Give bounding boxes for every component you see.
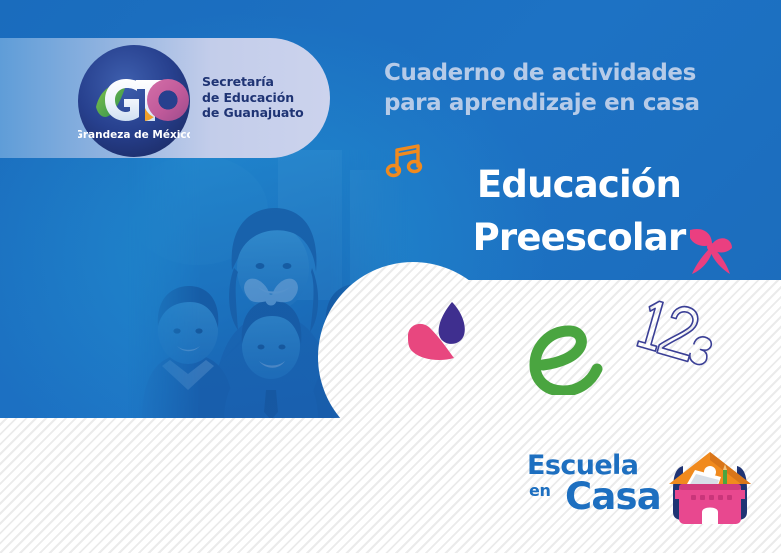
house-backpack-icon [665, 450, 755, 528]
secretariat-text: Secretaría de Educación de Guanajuato [202, 74, 304, 121]
purple-teardrop-shape [437, 301, 467, 347]
green-letter-e-icon [527, 323, 605, 395]
escuela-en-casa-logo: Escuela en Casa [527, 450, 753, 526]
headline-line-1: Cuaderno de actividades [384, 60, 696, 86]
gto-tagline: Grandeza de México [78, 129, 190, 141]
secretariat-line-2: de Educación [202, 90, 304, 106]
headline-line-2: para aprendizaje en casa [384, 88, 754, 118]
secretariat-line-1: Secretaría [202, 74, 304, 90]
casa-word: Casa [565, 475, 661, 518]
secretariat-line-3: de Guanajuato [202, 105, 304, 121]
subject-line-1: Educación [394, 158, 764, 211]
numbers-123-outline-icon [632, 299, 718, 375]
gto-logo: Grandeza de México [78, 45, 190, 157]
cover-page: Grandeza de México Secretaría de Educaci… [0, 0, 781, 553]
en-word: en [529, 481, 550, 500]
pink-ribbon-icon [682, 222, 738, 278]
headline: Cuaderno de actividades para aprendizaje… [384, 58, 754, 118]
